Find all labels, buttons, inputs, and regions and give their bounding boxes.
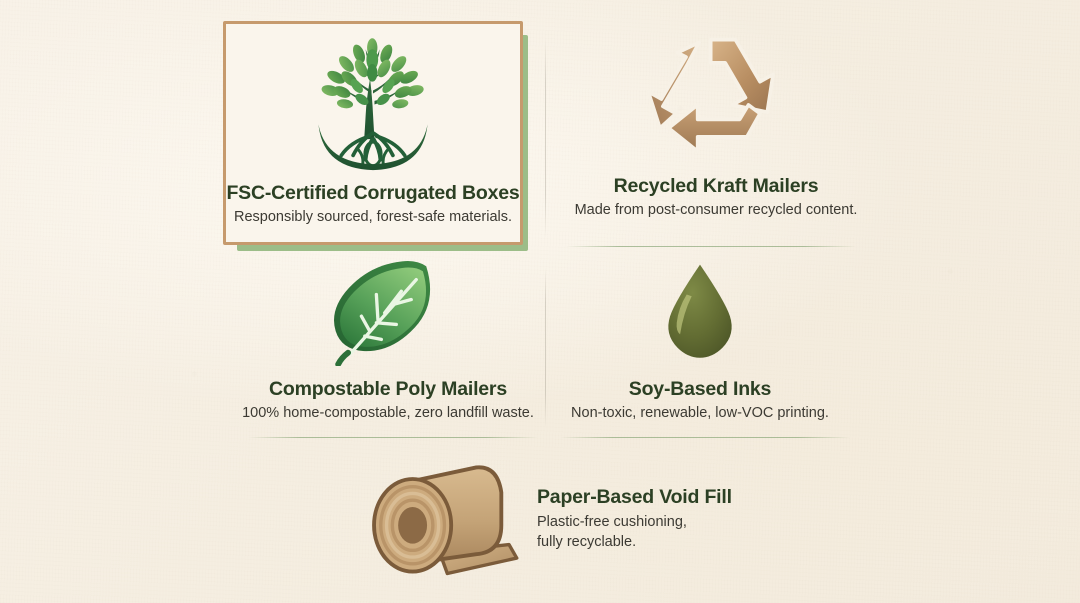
horizontal-divider-left: [248, 437, 538, 438]
card-title: Compostable Poly Mailers: [269, 378, 507, 401]
card-subtitle: 100% home-compostable, zero landfill was…: [242, 405, 534, 421]
card-title: Paper-Based Void Fill: [537, 486, 732, 509]
vertical-divider-row-1: [545, 38, 546, 238]
tree-icon: [298, 36, 448, 176]
card-title: Soy-Based Inks: [629, 378, 771, 401]
droplet-icon: [640, 258, 760, 366]
card-recycled-kraft-mailers[interactable]: Recycled Kraft Mailers Made from post-co…: [566, 24, 866, 218]
card-title: FSC-Certified Corrugated Boxes: [226, 182, 519, 205]
leaf-icon: [328, 258, 448, 366]
card-compostable-poly-mailers[interactable]: Compostable Poly Mailers 100% home-compo…: [238, 258, 538, 421]
sustainable-packaging-infographic: FSC-Certified Corrugated Boxes Responsib…: [0, 0, 1080, 603]
card-subtitle: Plastic-free cushioning, fully recyclabl…: [537, 513, 732, 552]
card-subtitle: Responsibly sourced, forest-safe materia…: [234, 209, 512, 225]
paper-roll-icon: [360, 452, 525, 587]
card-soy-based-inks[interactable]: Soy-Based Inks Non-toxic, renewable, low…: [550, 258, 850, 421]
card-subtitle: Non-toxic, renewable, low-VOC printing.: [571, 405, 829, 421]
horizontal-divider-kraft: [566, 246, 856, 247]
card-title: Recycled Kraft Mailers: [614, 175, 819, 198]
card-paper-based-void-fill[interactable]: Paper-Based Void Fill Plastic-free cushi…: [360, 452, 800, 587]
card-fsc-certified-corrugated-boxes[interactable]: FSC-Certified Corrugated Boxes Responsib…: [223, 21, 523, 245]
recycle-icon: [644, 24, 789, 164]
vertical-divider-row-2: [545, 268, 546, 428]
horizontal-divider-right: [560, 437, 850, 438]
card-subtitle: Made from post-consumer recycled content…: [575, 202, 858, 218]
void-fill-text-block: Paper-Based Void Fill Plastic-free cushi…: [537, 486, 732, 552]
